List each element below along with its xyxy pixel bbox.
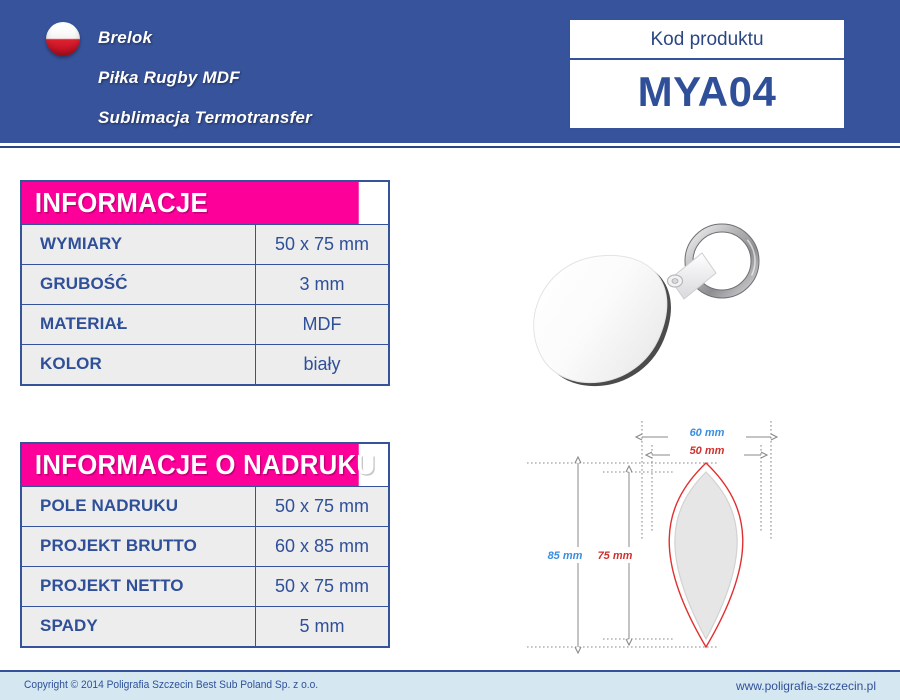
nadruk-table: INFORMACJE O NADRUKU POLE NADRUKU 50 x 7… — [20, 442, 390, 648]
row-label: PROJEKT BRUTTO — [22, 527, 256, 566]
row-label: MATERIAŁ — [22, 305, 256, 344]
row-label: SPADY — [22, 607, 256, 646]
product-photo — [520, 215, 800, 400]
row-value: MDF — [256, 305, 388, 344]
width-inner-label: 50 mm — [690, 445, 725, 457]
table-row: WYMIARY 50 x 75 mm — [22, 224, 388, 264]
dimension-diagram: 60 mm 50 mm 85 mm 75 mm — [505, 415, 890, 665]
product-code-value: MYA04 — [570, 60, 844, 128]
row-label: KOLOR — [22, 345, 256, 384]
keyring-tag-graphic — [520, 230, 696, 400]
height-inner-label: 75 mm — [598, 550, 633, 562]
row-value: 50 x 75 mm — [256, 567, 388, 606]
row-value: 60 x 85 mm — [256, 527, 388, 566]
row-value: 5 mm — [256, 607, 388, 646]
table-row: SPADY 5 mm — [22, 606, 388, 646]
nadruk-table-header: INFORMACJE O NADRUKU — [22, 444, 359, 486]
product-name-title: Piłka Rugby MDF — [98, 58, 312, 98]
table-row: PROJEKT BRUTTO 60 x 85 mm — [22, 526, 388, 566]
informacje-table: INFORMACJE WYMIARY 50 x 75 mm GRUBOŚĆ 3 … — [20, 180, 390, 386]
table-row: POLE NADRUKU 50 x 75 mm — [22, 486, 388, 526]
row-label: POLE NADRUKU — [22, 487, 256, 526]
row-value: 50 x 75 mm — [256, 225, 388, 264]
header-title-block: Brelok Piłka Rugby MDF Sublimacja Termot… — [98, 18, 312, 138]
table-row: MATERIAŁ MDF — [22, 304, 388, 344]
row-label: WYMIARY — [22, 225, 256, 264]
product-code-label: Kod produktu — [570, 20, 844, 60]
row-value: 3 mm — [256, 265, 388, 304]
width-outer-label: 60 mm — [690, 427, 725, 439]
height-outer-label: 85 mm — [548, 550, 583, 562]
copyright-text: Copyright © 2014 Poligrafia Szczecin Bes… — [24, 679, 318, 691]
row-label: GRUBOŚĆ — [22, 265, 256, 304]
product-code-box: Kod produktu MYA04 — [568, 18, 846, 130]
table-row: PROJEKT NETTO 50 x 75 mm — [22, 566, 388, 606]
page-footer: Copyright © 2014 Poligrafia Szczecin Bes… — [0, 670, 900, 700]
product-technique-title: Sublimacja Termotransfer — [98, 98, 312, 138]
row-value: 50 x 75 mm — [256, 487, 388, 526]
table-row: KOLOR biały — [22, 344, 388, 384]
website-link[interactable]: www.poligrafia-szczecin.pl — [736, 679, 876, 693]
header-divider — [0, 146, 900, 148]
netto-area-shape — [675, 472, 737, 639]
poland-flag-icon — [46, 22, 80, 56]
row-label: PROJEKT NETTO — [22, 567, 256, 606]
table-row: GRUBOŚĆ 3 mm — [22, 264, 388, 304]
product-category-title: Brelok — [98, 18, 312, 58]
informacje-table-header: INFORMACJE — [22, 182, 359, 224]
row-value: biały — [256, 345, 388, 384]
